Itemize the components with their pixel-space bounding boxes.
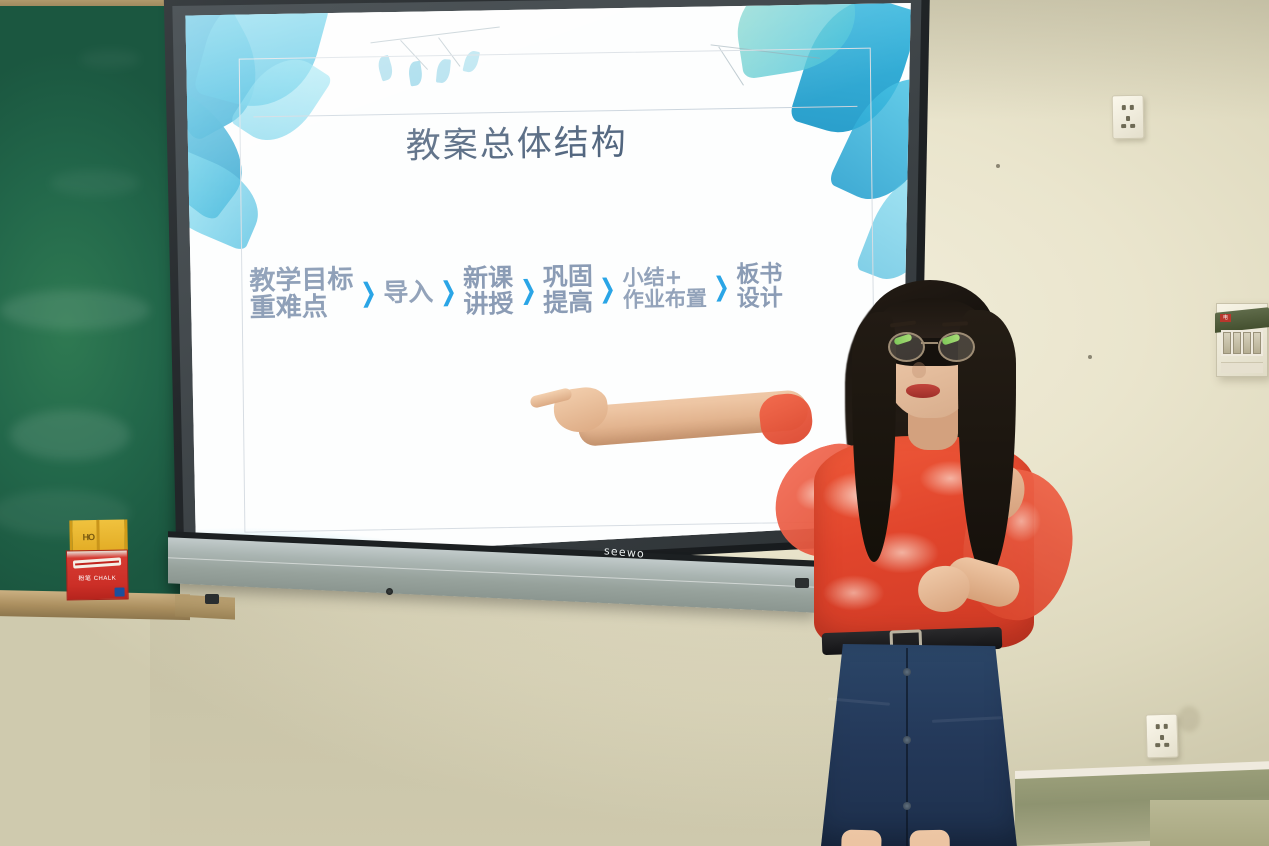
step-objectives[interactable]: 教学目标 重难点 [249,267,354,323]
floor [1150,800,1269,846]
glasses-bridge [921,342,938,344]
breaker-switch[interactable] [1223,332,1231,354]
blackboard-frame-top [0,0,180,6]
electrical-breaker-panel[interactable]: 电 [1216,303,1268,377]
teacher [560,270,1060,846]
breaker-switch-row[interactable] [1221,330,1263,356]
chalk-box-badge [115,588,125,597]
breaker-switch[interactable] [1233,332,1241,354]
wall-nail-2 [1088,355,1092,359]
chevron-right-icon-1: ❯ [360,279,377,309]
sleeve-cuff-left [758,391,815,446]
eyeglasses [886,332,976,358]
breaker-panel-base [1221,362,1263,373]
mouth [906,384,940,398]
chevron-right-icon-3: ❯ [520,276,537,306]
chalk-box-top-label: HO [83,532,95,542]
nose [912,362,926,378]
skirt-seam [906,648,908,846]
wall-nail-1 [996,164,1000,168]
step-new-lesson[interactable]: 新课 讲授 [463,265,514,318]
denim-skirt [814,644,1020,846]
skirt-button [903,668,911,676]
wall-scuff [1178,706,1200,732]
breaker-warning-tag: 电 [1220,314,1231,322]
stand-screw [386,588,393,595]
chevron-right-icon-2: ❯ [440,277,457,307]
power-outlet-top-right[interactable] [1112,95,1145,140]
power-outlet-bottom-right[interactable] [1145,714,1178,759]
chalk-box-front-label: 粉笔 CHALK [71,573,123,583]
chalk-box[interactable]: HO 粉笔 CHALK [65,519,126,598]
chalk-box-stripe [73,557,121,568]
skirt-button [903,802,911,810]
classroom-scene: HO 粉笔 CHALK [0,0,1269,846]
step-introduction[interactable]: 导入 [383,279,433,306]
breaker-switch[interactable] [1253,332,1261,354]
breaker-switch[interactable] [1243,332,1251,354]
stand-foot-left [205,594,219,604]
chalk-box-front: 粉笔 CHALK [66,549,129,600]
skirt-button [903,736,911,744]
blackboard [0,0,180,605]
